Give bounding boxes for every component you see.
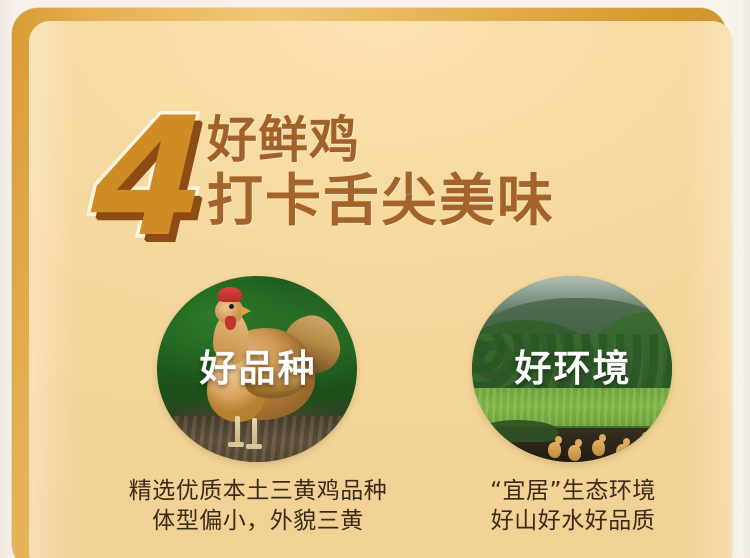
caption-breed-line-2: 体型偏小，外貌三黄 xyxy=(98,506,418,536)
circle-label-environment: 好环境 xyxy=(472,338,674,392)
section-number-4: 4 xyxy=(89,96,203,260)
circle-label-breed: 好品种 xyxy=(157,338,359,392)
circle-image-wrap-environment: 好环境 xyxy=(472,270,674,462)
headline-line-1: 好鲜鸡 xyxy=(207,114,707,167)
feature-row: 好品种 精选优质本土三黄鸡品种 体型偏小，外貌三黄 xyxy=(0,270,750,558)
product-detail-poster: 4 好鲜鸡 打卡舌尖美味 xyxy=(0,0,750,558)
caption-environment-line-2: 好山好水好品质 xyxy=(413,506,733,536)
feature-card-environment[interactable]: 好环境 “宜居”生态环境 好山好水好品质 xyxy=(413,270,733,537)
caption-environment-line-1: “宜居”生态环境 xyxy=(413,476,733,506)
circle-image-wrap-breed: 好品种 xyxy=(157,270,359,462)
feature-card-breed[interactable]: 好品种 精选优质本土三黄鸡品种 体型偏小，外貌三黄 xyxy=(98,270,418,537)
headline-line-2: 打卡舌尖美味 xyxy=(207,171,707,234)
caption-breed-line-1: 精选优质本土三黄鸡品种 xyxy=(98,476,418,506)
caption-breed: 精选优质本土三黄鸡品种 体型偏小，外貌三黄 xyxy=(98,476,418,537)
header-section: 4 好鲜鸡 打卡舌尖美味 xyxy=(0,44,750,234)
caption-environment: “宜居”生态环境 好山好水好品质 xyxy=(413,476,733,537)
headline-block: 好鲜鸡 打卡舌尖美味 xyxy=(207,114,707,234)
